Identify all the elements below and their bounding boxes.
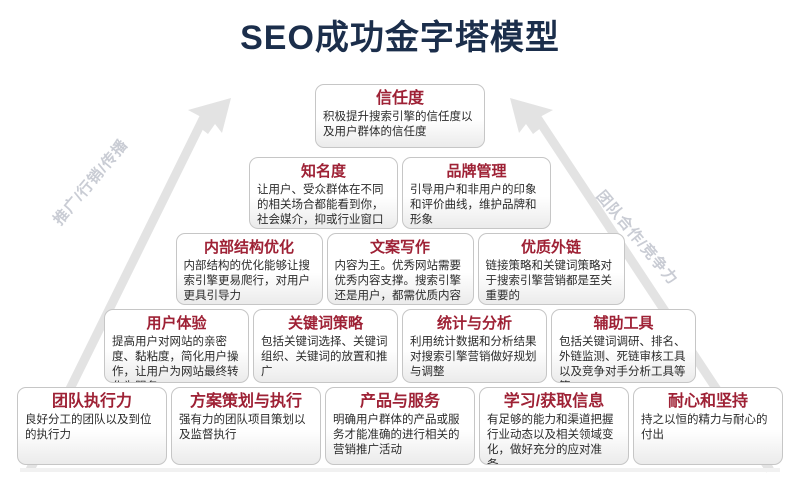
box-body: 积极提升搜索引擎的信任度以及用户群体的信任度 [323,110,477,140]
box-body: 良好分工的团队以及到位的执行力 [25,413,159,443]
box-title: 统计与分析 [410,314,539,334]
box-title: 辅助工具 [559,314,688,334]
pyramid-level-3: 内部结构优化 内部结构的优化能够让搜索引擎更易爬行，对用户更具引导力 文案写作 … [0,233,800,305]
pyramid-box-statistics-analysis[interactable]: 统计与分析 利用统计数据和分析结果对搜索引擎营销做好规划与调整 [402,309,547,383]
pyramid-box-internal-structure[interactable]: 内部结构优化 内部结构的优化能够让搜索引擎更易爬行，对用户更具引导力 [176,233,323,305]
pyramid-box-auxiliary-tools[interactable]: 辅助工具 包括关键词调研、排名、外链监测、死链审核工具以及竞争对手分析工具等等。 [551,309,696,383]
page-title: SEO成功金字塔模型 [0,18,800,58]
pyramid-level-5: 团队执行力 良好分工的团队以及到位的执行力 方案策划与执行 强有力的团队项目策划… [0,387,800,465]
box-title: 学习/获取信息 [487,392,621,412]
box-title: 优质外链 [486,238,617,258]
pyramid-box-brand-management[interactable]: 品牌管理 引导用户和非用户的印象和评价曲线，维护品牌和形象 [402,157,551,229]
box-title: 产品与服务 [333,392,467,412]
box-title: 团队执行力 [25,392,159,412]
box-body: 链接策略和关键词策略对于搜索引擎营销都是至关重要的 [486,259,617,304]
pyramid-box-quality-backlinks[interactable]: 优质外链 链接策略和关键词策略对于搜索引擎营销都是至关重要的 [478,233,625,305]
box-body: 持之以恒的精力与耐心的付出 [641,413,775,443]
pyramid-level-1: 信任度 积极提升搜索引擎的信任度以及用户群体的信任度 [0,84,800,148]
box-title: 用户体验 [112,314,241,334]
box-body: 有足够的能力和渠道把握行业动态以及相关领域变化，做好充分的应对准备。 [487,413,621,465]
pyramid-level-2: 知名度 让用户、受众群体在不同的相关场合都能看到你，社会媒介，抑或行业窗口 品牌… [0,157,800,229]
pyramid-box-patience-persistence[interactable]: 耐心和坚持 持之以恒的精力与耐心的付出 [633,387,783,465]
box-body: 提高用户对网站的亲密度、黏粘度，简化用户操作，让用户为网站最终转化为服务 [112,335,241,383]
box-body: 内容为王。优秀网站需要优秀内容支撑。搜索引擎还是用户，都需优质内容来满足 [335,259,466,305]
pyramid-box-keyword-strategy[interactable]: 关键词策略 包括关键词选择、关键词组织、关键词的放置和推广 [253,309,398,383]
box-title: 文案写作 [335,238,466,258]
box-title: 知名度 [257,162,390,182]
box-title: 内部结构优化 [184,238,315,258]
pyramid-level-4: 用户体验 提高用户对网站的亲密度、黏粘度，简化用户操作，让用户为网站最终转化为服… [0,309,800,383]
box-title: 信任度 [323,89,477,109]
diagram-canvas: SEO成功金字塔模型 推广/行销/传播 团队合作/竞争力 信任度 积极提升搜索引… [0,0,800,496]
box-body: 让用户、受众群体在不同的相关场合都能看到你，社会媒介，抑或行业窗口 [257,183,390,228]
box-title: 品牌管理 [410,162,543,182]
pyramid-box-awareness[interactable]: 知名度 让用户、受众群体在不同的相关场合都能看到你，社会媒介，抑或行业窗口 [249,157,398,229]
box-body: 包括关键词选择、关键词组织、关键词的放置和推广 [261,335,390,380]
box-body: 引导用户和非用户的印象和评价曲线，维护品牌和形象 [410,183,543,228]
box-title: 耐心和坚持 [641,392,775,412]
box-body: 明确用户群体的产品或服务才能准确的进行相关的营销推广活动 [333,413,467,458]
pyramid-box-trust[interactable]: 信任度 积极提升搜索引擎的信任度以及用户群体的信任度 [315,84,485,148]
pyramid-box-learning-information[interactable]: 学习/获取信息 有足够的能力和渠道把握行业动态以及相关领域变化，做好充分的应对准… [479,387,629,465]
pyramid-box-user-experience[interactable]: 用户体验 提高用户对网站的亲密度、黏粘度，简化用户操作，让用户为网站最终转化为服… [104,309,249,383]
box-title: 方案策划与执行 [179,392,313,412]
box-body: 内部结构的优化能够让搜索引擎更易爬行，对用户更具引导力 [184,259,315,304]
box-title: 关键词策略 [261,314,390,334]
pyramid-box-plan-execution[interactable]: 方案策划与执行 强有力的团队项目策划以及监督执行 [171,387,321,465]
box-body: 包括关键词调研、排名、外链监测、死链审核工具以及竞争对手分析工具等等。 [559,335,688,383]
box-body: 利用统计数据和分析结果对搜索引擎营销做好规划与调整 [410,335,539,380]
pyramid-box-products-services[interactable]: 产品与服务 明确用户群体的产品或服务才能准确的进行相关的营销推广活动 [325,387,475,465]
pyramid-box-team-execution[interactable]: 团队执行力 良好分工的团队以及到位的执行力 [17,387,167,465]
box-body: 强有力的团队项目策划以及监督执行 [179,413,313,443]
pyramid-box-copywriting[interactable]: 文案写作 内容为王。优秀网站需要优秀内容支撑。搜索引擎还是用户，都需优质内容来满… [327,233,474,305]
